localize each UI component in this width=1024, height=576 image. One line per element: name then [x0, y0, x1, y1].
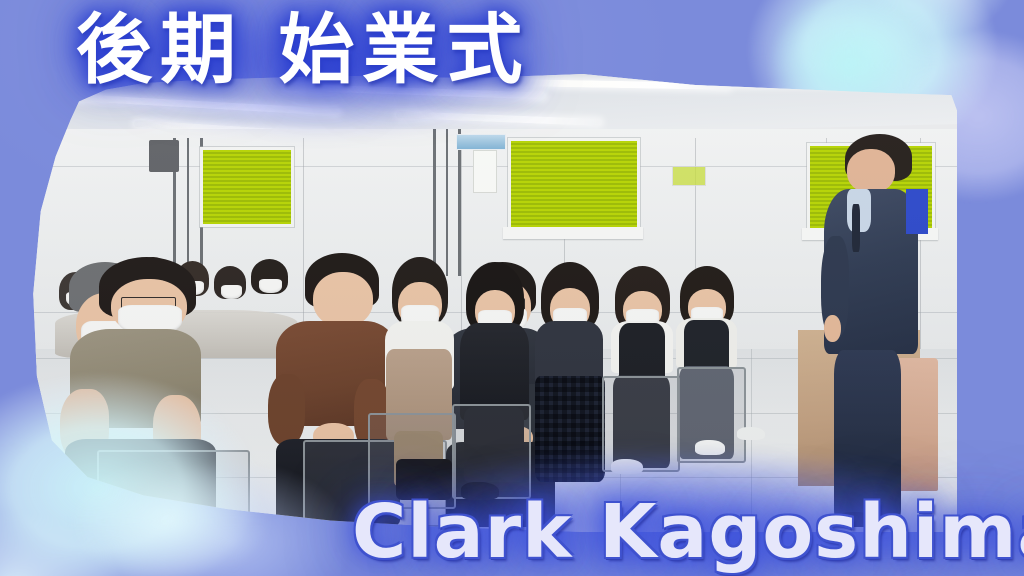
window-blind [508, 138, 640, 236]
blue-banner [906, 189, 928, 235]
head [847, 149, 894, 192]
shoe [737, 427, 765, 441]
chair [602, 376, 681, 472]
necktie [852, 204, 861, 251]
thumbnail-canvas: 後期 始業式 Clark Kagoshima [0, 0, 1024, 576]
wall-notice [473, 150, 497, 193]
seated-student [532, 262, 607, 482]
event-photo [22, 74, 957, 532]
window-blind [200, 147, 295, 226]
arm [268, 374, 305, 445]
wall-notice-green [672, 166, 706, 186]
shoe [611, 459, 643, 475]
hands [824, 315, 841, 343]
vest [619, 323, 664, 383]
plaid-skirt [535, 376, 605, 482]
photo-scene [22, 74, 957, 532]
school-name-label: Clark Kagoshima [352, 495, 1024, 570]
wall-sign-icon [456, 134, 507, 151]
ceiling-speaker-icon [149, 140, 179, 172]
shoe [695, 440, 725, 455]
window-sill [503, 227, 643, 239]
page-title: 後期 始業式 [76, 12, 530, 88]
